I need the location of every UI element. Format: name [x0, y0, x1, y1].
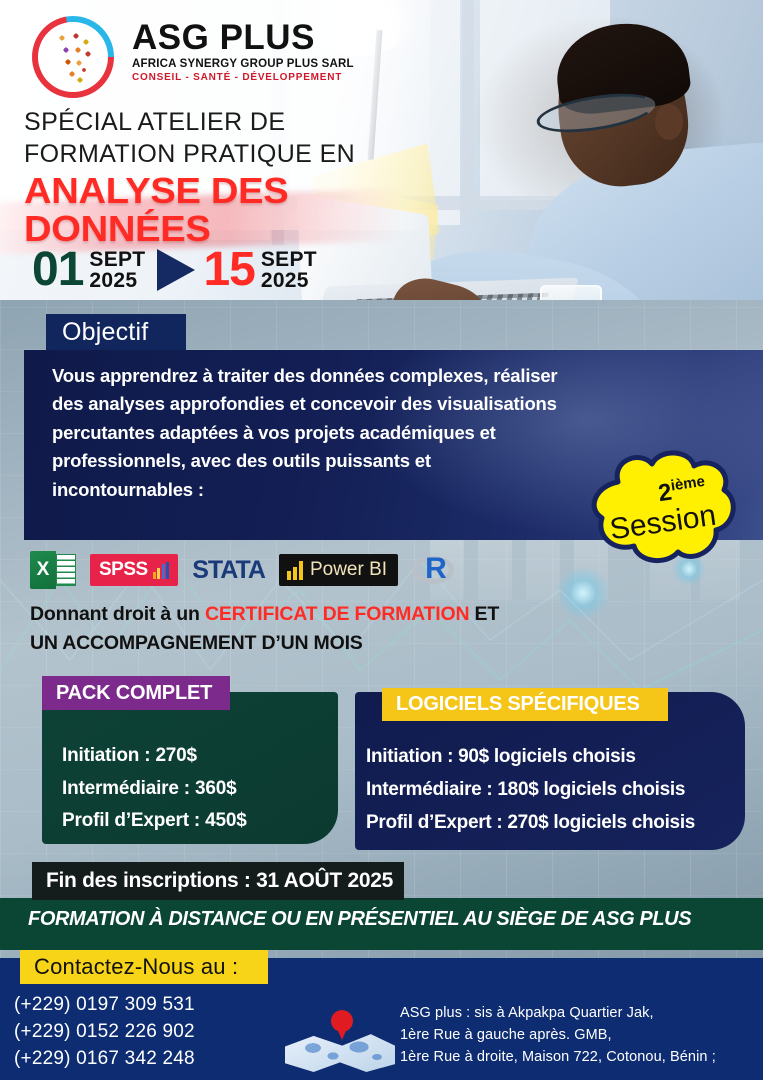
- certificate-highlight: CERTIFICAT DE FORMATION: [205, 603, 469, 625]
- end-date-day: 15: [203, 248, 254, 292]
- price-item: Intermédiaire : 180$ logiciels choisis: [366, 773, 695, 806]
- deadline-text: Fin des inscriptions : 31 AOÛT 2025: [46, 869, 393, 893]
- arrow-right-icon: [157, 249, 195, 291]
- phone-list: (+229) 0197 309 531 (+229) 0152 226 902 …: [14, 992, 195, 1073]
- map-pin-icon: [285, 1010, 395, 1072]
- phone-number[interactable]: (+229) 0167 342 248: [14, 1046, 195, 1073]
- brand-logo: ASG PLUS AFRICA SYNERGY GROUP PLUS SARL …: [32, 14, 362, 102]
- excel-letter: X: [30, 551, 56, 589]
- price-item: Profil d’Expert : 450$: [62, 805, 247, 838]
- start-date-month: SEPT: [89, 249, 145, 270]
- address-line: ASG plus : sis à Akpakpa Quartier Jak,: [400, 1002, 756, 1024]
- session-burst-badge: 2ième Session: [582, 448, 742, 566]
- mode-banner-text: FORMATION À DISTANCE OU EN PRÉSENTIEL AU…: [28, 908, 748, 931]
- certificate-line1: Donnant droit à un CERTIFICAT DE FORMATI…: [30, 600, 590, 629]
- spss-label: SPSS: [99, 559, 148, 581]
- powerbi-label: Power BI: [310, 559, 387, 581]
- date-range: 01 SEPT 2025 15 SEPT 2025: [32, 248, 317, 292]
- pack-complet-badge: PACK COMPLET: [42, 676, 230, 710]
- end-date-month: SEPT: [261, 249, 317, 270]
- logiciels-specifiques-price-list: Initiation : 90$ logiciels choisis Inter…: [366, 740, 695, 839]
- phone-number[interactable]: (+229) 0152 226 902: [14, 1019, 195, 1046]
- address-line: 1ère Rue à droite, Maison 722, Cotonou, …: [400, 1046, 756, 1068]
- end-date-year: 2025: [261, 270, 317, 291]
- certificate-note: Donnant droit à un CERTIFICAT DE FORMATI…: [30, 600, 590, 659]
- tool-spss: SPSS: [90, 552, 178, 588]
- logiciels-specifiques-badge: LOGICIELS SPÉCIFIQUES: [382, 688, 668, 721]
- price-item: Initiation : 270$: [62, 740, 247, 773]
- tool-r: R: [412, 552, 454, 588]
- tool-stata: STATA: [192, 552, 265, 588]
- price-item: Intermédiaire : 360$: [62, 773, 247, 806]
- headline-line2: FORMATION PRATIQUE EN: [24, 138, 444, 170]
- excel-grid: [56, 554, 76, 586]
- powerbi-icon: Power BI: [279, 554, 398, 586]
- brand-name: ASG PLUS: [132, 20, 354, 55]
- spss-icon: SPSS: [90, 554, 178, 586]
- start-date-day: 01: [32, 248, 83, 292]
- tool-excel: X: [30, 552, 76, 588]
- logiciels-specifiques-title: LOGICIELS SPÉCIFIQUES: [396, 693, 640, 716]
- address-line: 1ère Rue à gauche après. GMB,: [400, 1024, 756, 1046]
- r-icon: R: [412, 552, 454, 588]
- pack-complet-title: PACK COMPLET: [56, 682, 212, 705]
- brand-full-name: AFRICA SYNERGY GROUP PLUS SARL: [132, 58, 354, 70]
- headline-line1: SPÉCIAL ATELIER DE: [24, 106, 444, 138]
- africa-continent-icon: [54, 30, 94, 86]
- powerbi-bars-icon: [287, 561, 303, 580]
- location-pin: [331, 1010, 353, 1032]
- r-letter: R: [425, 552, 455, 585]
- africa-map-logo-icon: [32, 16, 114, 98]
- certificate-line2: UN ACCOMPAGNEMENT D’UN MOIS: [30, 629, 590, 658]
- person-ear: [655, 104, 683, 140]
- objective-badge-label: Objectif: [62, 318, 148, 347]
- contact-title: Contactez-Nous au :: [34, 954, 238, 980]
- excel-icon: X: [30, 551, 76, 589]
- objective-text: Vous apprendrez à traiter des données co…: [52, 362, 572, 504]
- brand-tagline: CONSEIL - SANTÉ - DÉVELOPPEMENT: [132, 72, 354, 83]
- price-item: Initiation : 90$ logiciels choisis: [366, 740, 695, 773]
- objective-badge: Objectif: [46, 314, 186, 350]
- price-item: Profil d’Expert : 270$ logiciels choisis: [366, 806, 695, 839]
- map-continents: [293, 1036, 387, 1066]
- spss-bars-icon: [153, 562, 170, 579]
- deadline-box: Fin des inscriptions : 31 AOÛT 2025: [32, 862, 404, 900]
- tool-powerbi: Power BI: [279, 552, 398, 588]
- address-block: ASG plus : sis à Akpakpa Quartier Jak, 1…: [400, 1002, 756, 1068]
- headline-block: SPÉCIAL ATELIER DE FORMATION PRATIQUE EN…: [24, 106, 444, 248]
- contact-badge: Contactez-Nous au :: [20, 950, 268, 984]
- pack-complet-price-list: Initiation : 270$ Intermédiaire : 360$ P…: [62, 740, 247, 838]
- phone-number[interactable]: (+229) 0197 309 531: [14, 992, 195, 1019]
- headline-emphasis: ANALYSE DES DONNÉES: [24, 172, 469, 248]
- start-date-year: 2025: [89, 270, 145, 291]
- poster-root: ASG PLUS AFRICA SYNERGY GROUP PLUS SARL …: [0, 0, 763, 1080]
- stata-icon: STATA: [192, 556, 265, 585]
- software-logos: X SPSS STATA Power BI R: [30, 552, 454, 588]
